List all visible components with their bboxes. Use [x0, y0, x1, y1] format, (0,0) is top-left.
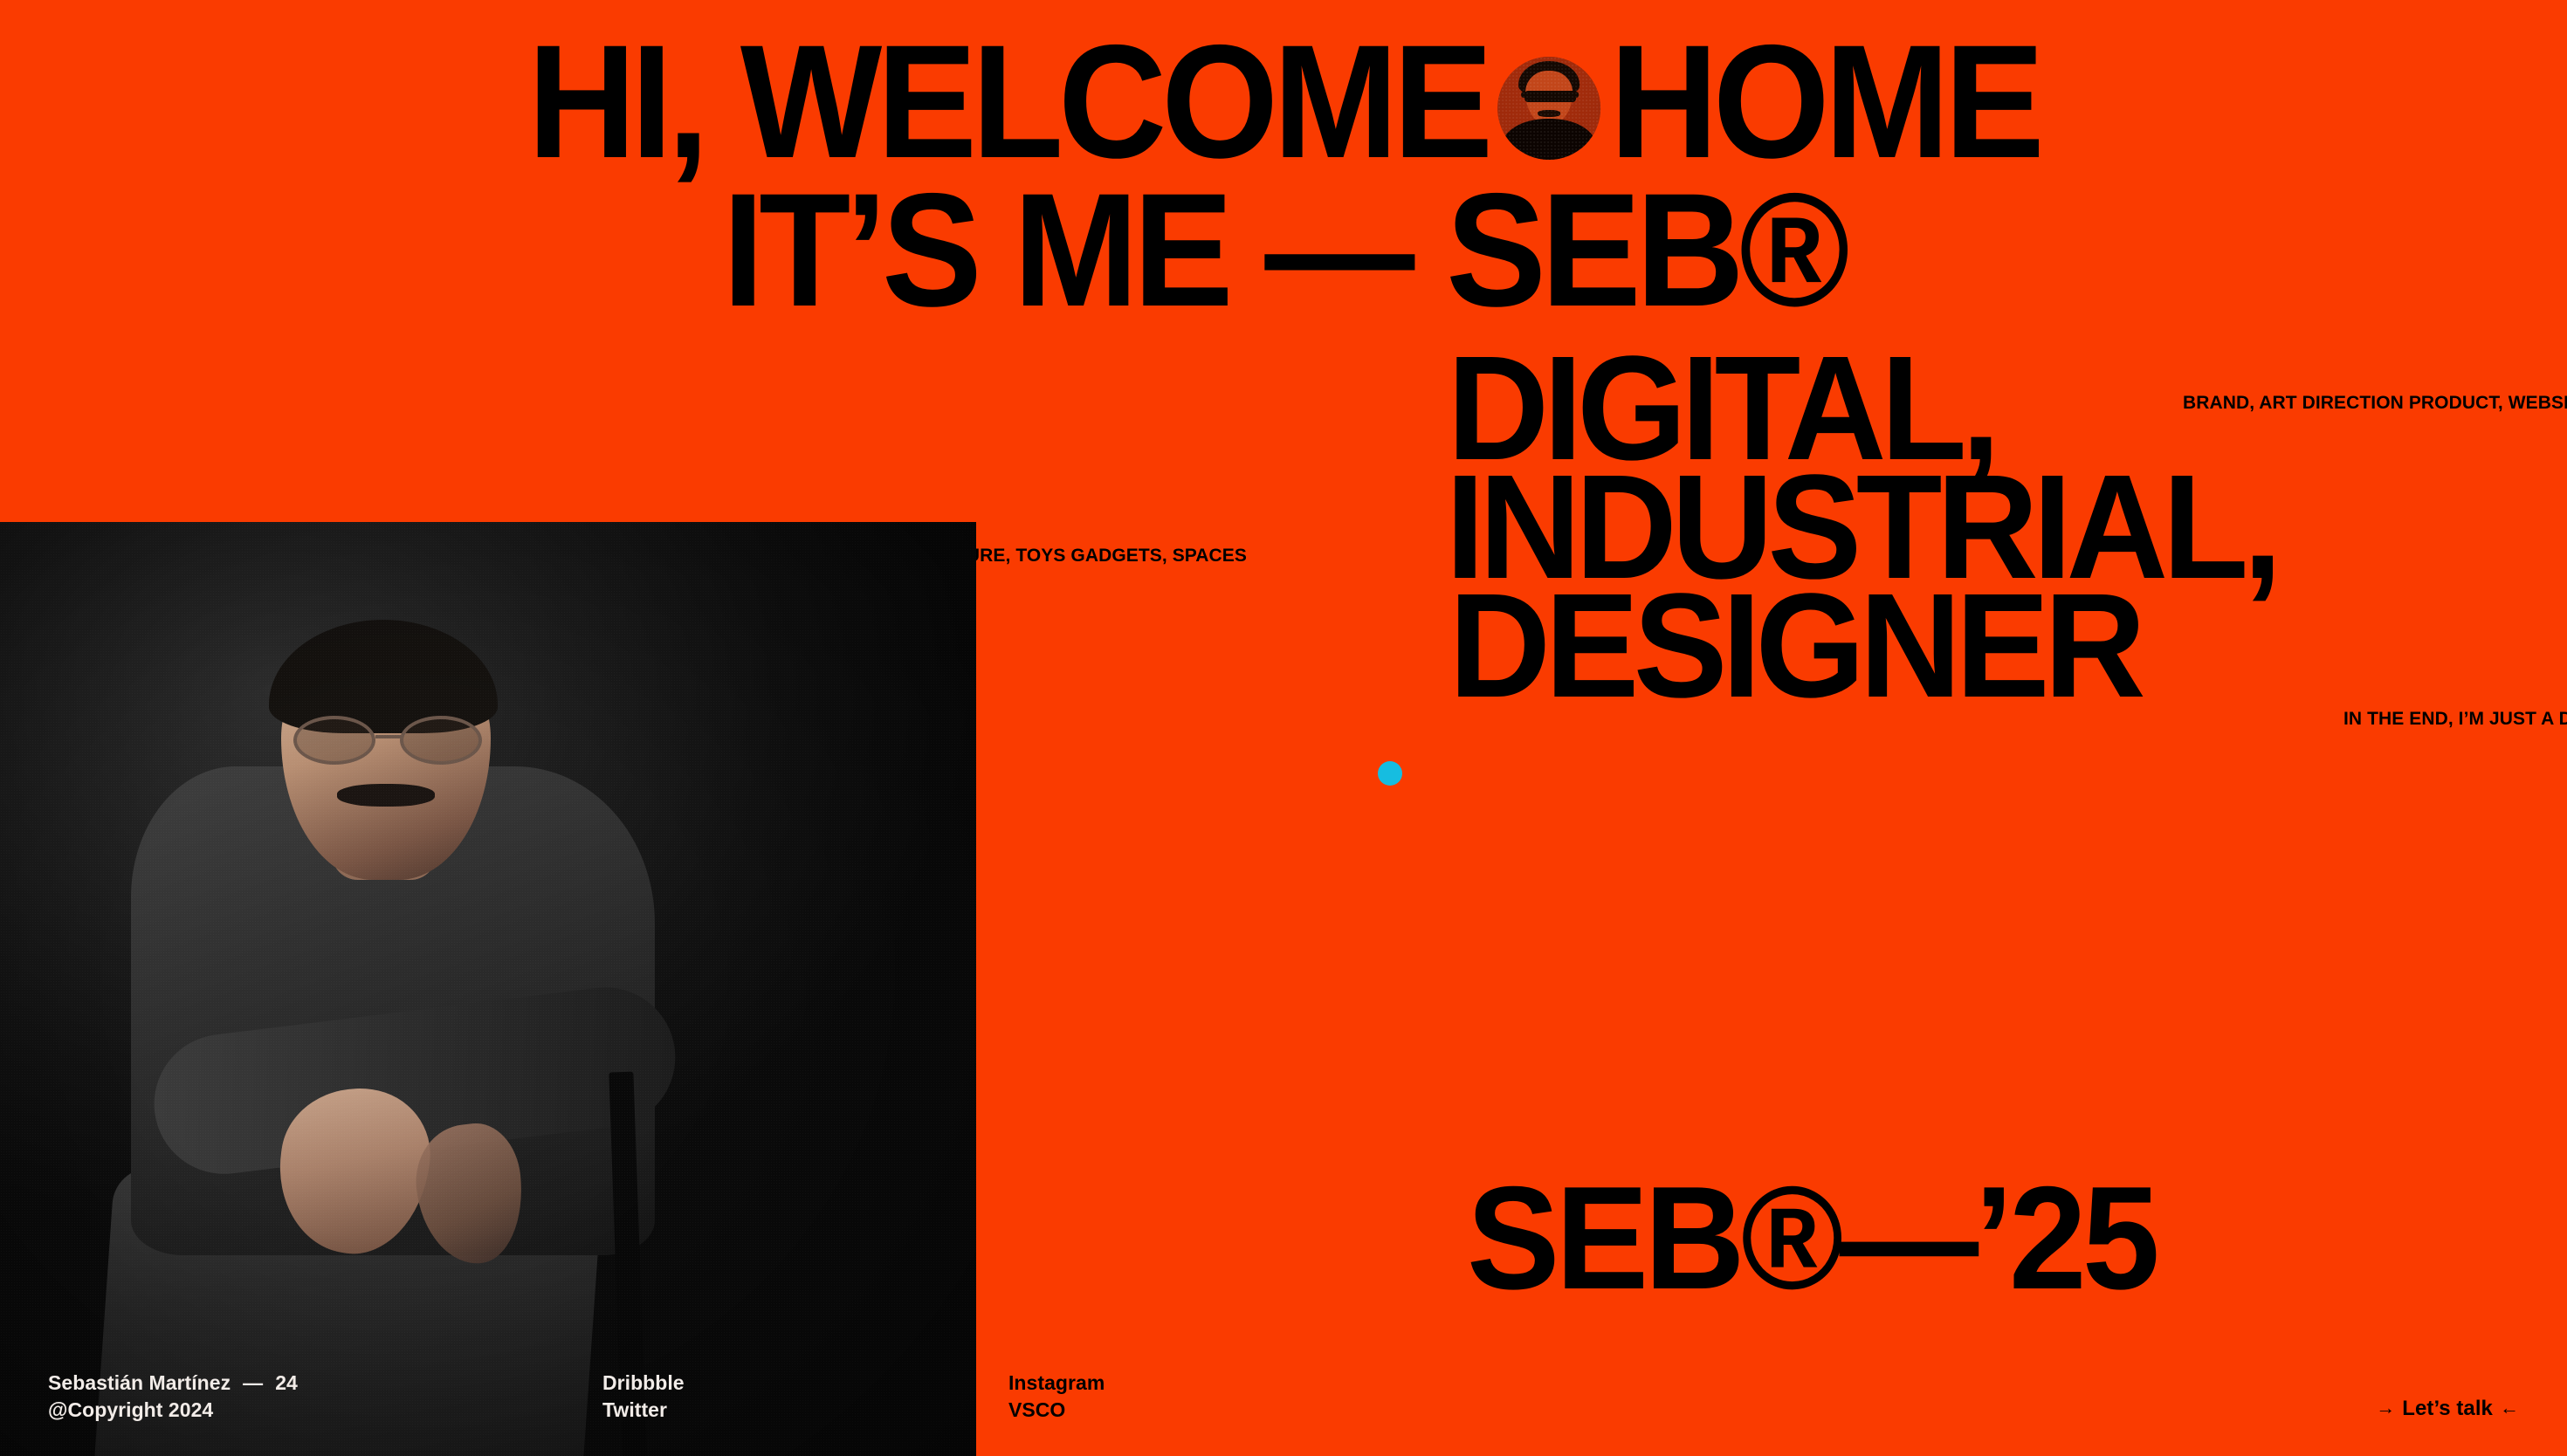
tag-services: BRAND, ART DIRECTION PRODUCT, WEBSITE: [2183, 392, 2567, 415]
tag-services-line-1: BRAND, ART DIRECTION: [2183, 393, 2404, 413]
eyeglasses-icon: [288, 716, 487, 765]
tag-ending-line-1: IN THE END, I’M: [2343, 709, 2484, 729]
footer-social-right: Instagram VSCO: [1008, 1370, 1105, 1425]
discipline-line-designer: DESIGNER: [1240, 587, 2501, 705]
lets-talk-button[interactable]: → Let’s talk ←: [2376, 1394, 2519, 1423]
footer-copyright: @Copyright 2024: [48, 1397, 298, 1425]
footer-age: 24: [275, 1370, 298, 1398]
tag-objects-line-2: GADGETS, SPACES: [1070, 546, 1247, 566]
footer-name: Sebastián Martínez: [48, 1370, 231, 1398]
discipline-line-industrial: INDUSTRIAL,: [1240, 468, 2501, 587]
link-vsco[interactable]: VSCO: [1008, 1397, 1105, 1425]
link-twitter[interactable]: Twitter: [602, 1397, 685, 1425]
tag-ending: IN THE END, I’M JUST A DESIGNER: [2343, 708, 2567, 731]
signature-lockup: SEB®—’25: [1467, 1174, 2156, 1303]
footer-social-left: Dribbble Twitter: [602, 1370, 685, 1425]
link-dribbble[interactable]: Dribbble: [602, 1370, 685, 1398]
tag-ending-line-2: JUST A DESIGNER: [2489, 709, 2567, 729]
hero-text-before: HI, WELCOME: [527, 37, 1488, 169]
portrait-avatar-icon: [1497, 57, 1600, 160]
footer-identity: Sebastián Martínez — 24 @Copyright 2024: [48, 1370, 298, 1425]
tag-services-line-2: PRODUCT, WEBSITE: [2409, 393, 2567, 413]
lets-talk-label: Let’s talk: [2402, 1394, 2493, 1423]
portrait-photo: [0, 522, 976, 1456]
arrow-right-icon: →: [2376, 1398, 2395, 1418]
footer-name-separator: —: [243, 1370, 263, 1398]
hero-line-1: HI, WELCOME HOME: [90, 0, 2477, 169]
arrow-left-icon: ←: [2500, 1398, 2519, 1418]
hero-line-2: IT’S ME — SEB®: [90, 169, 2477, 318]
page-root: HI, WELCOME HOME IT’S ME — SEB® DIGITAL,…: [0, 0, 2567, 1456]
hero-text-after: HOME: [1610, 37, 2040, 169]
hero-headline: HI, WELCOME HOME IT’S ME — SEB®: [0, 0, 2567, 317]
link-instagram[interactable]: Instagram: [1008, 1370, 1105, 1398]
accent-dot-icon: [1378, 761, 1402, 786]
